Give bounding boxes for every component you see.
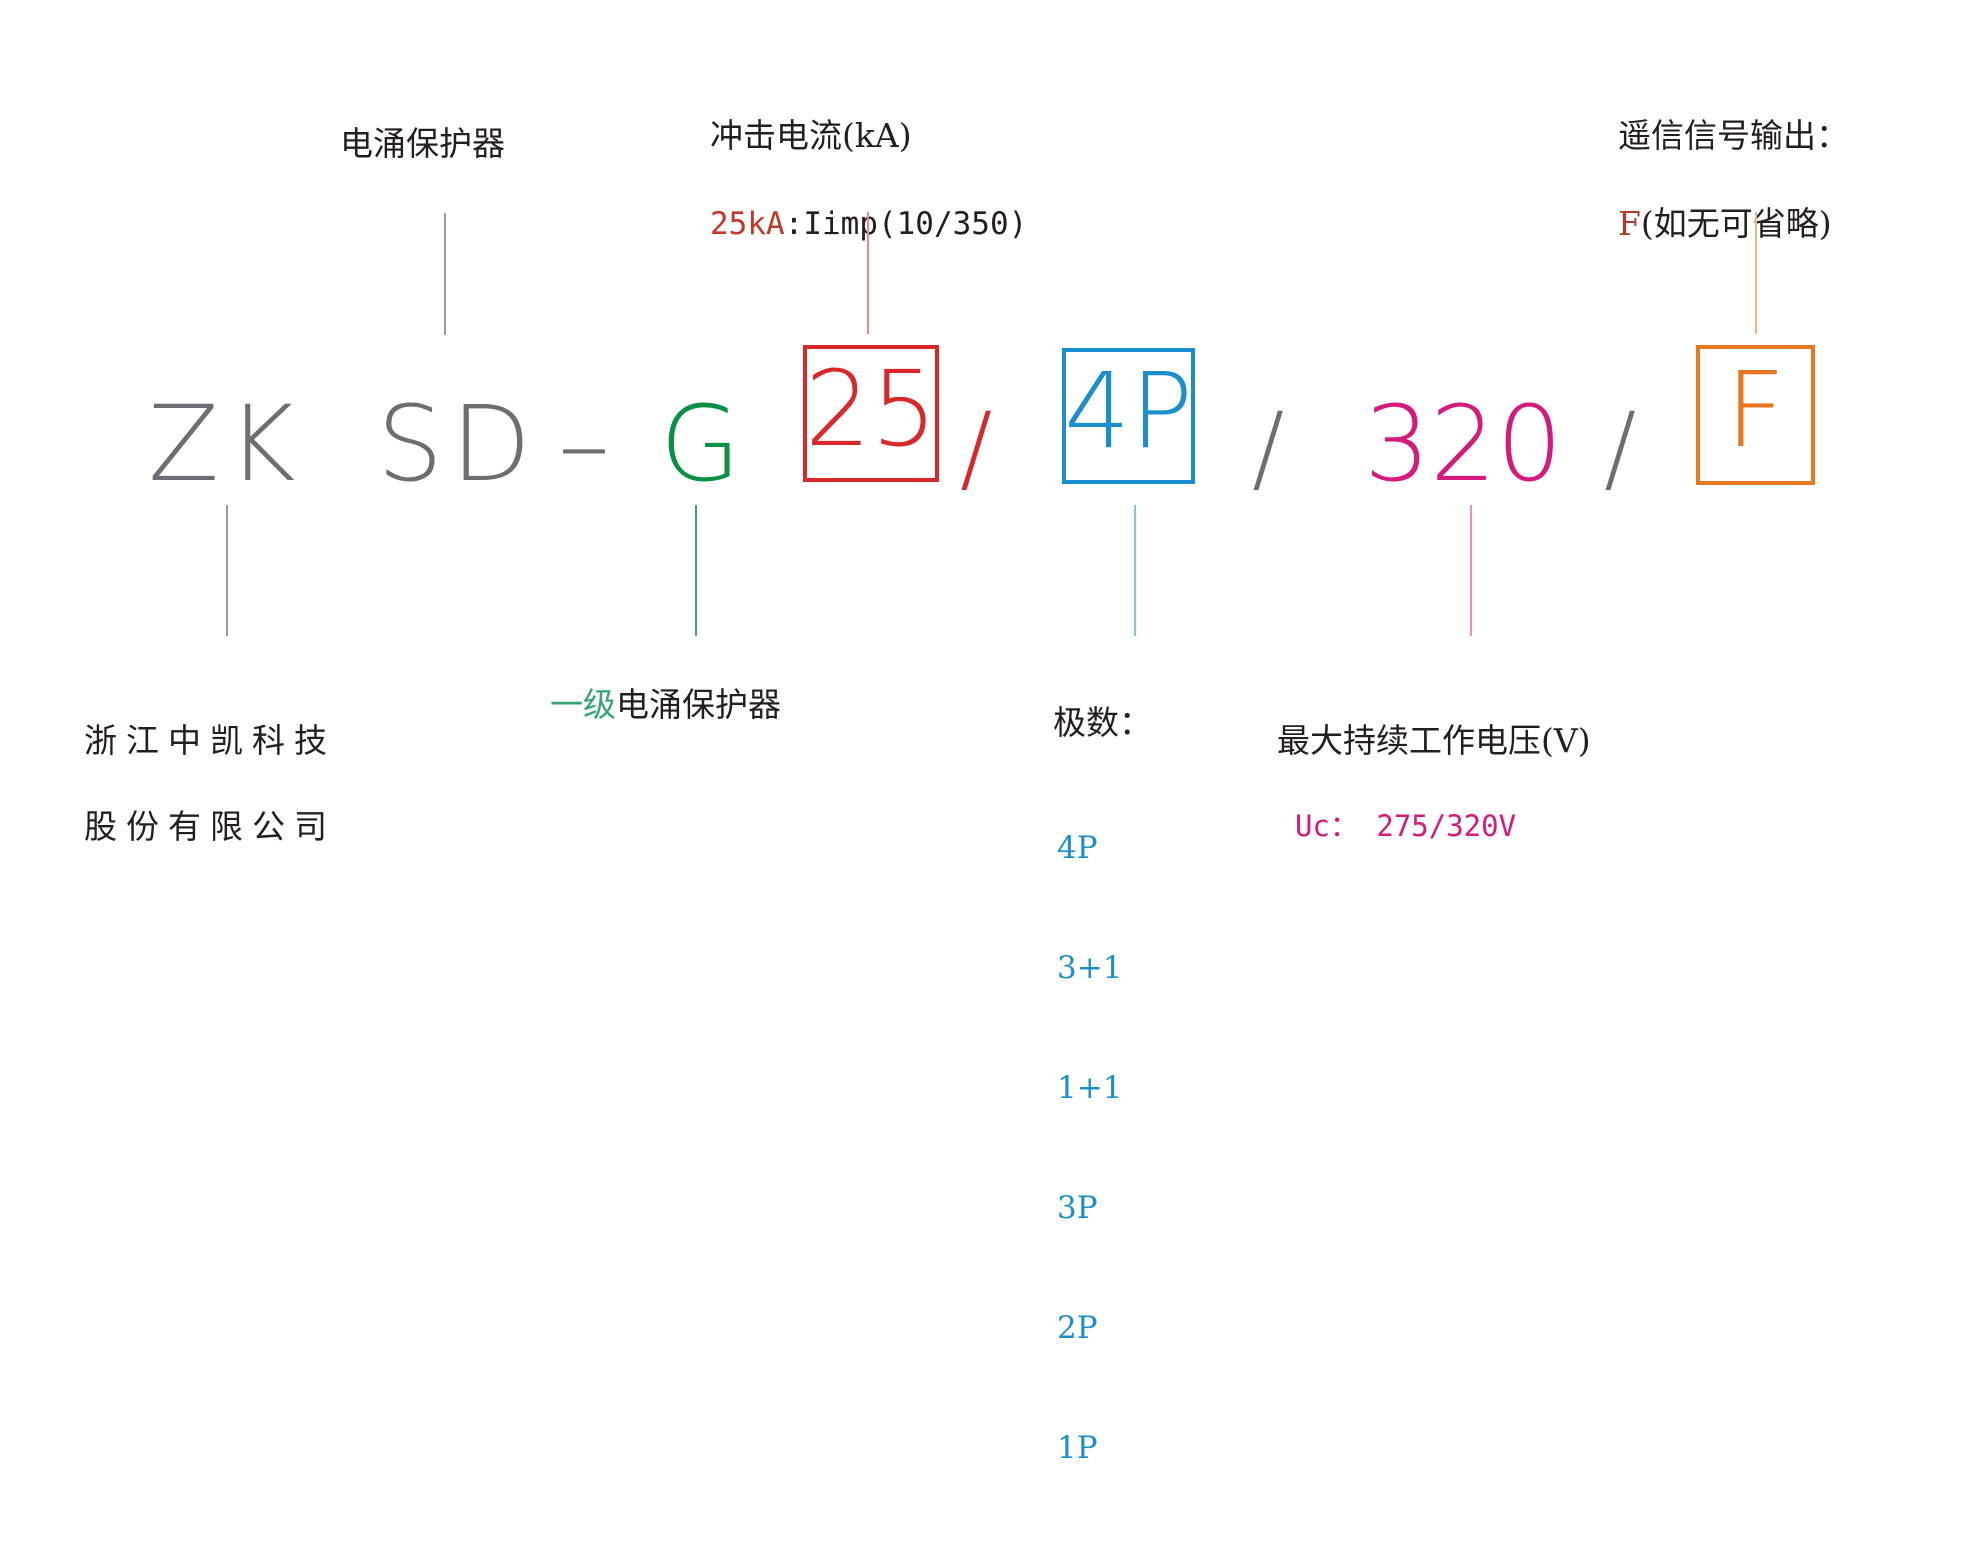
- annotation-grade-rest: 电涌保护器: [616, 685, 781, 724]
- annotation-grade: 一级电涌保护器: [550, 680, 781, 730]
- pole-option-5: 1P: [1057, 1428, 1122, 1468]
- annotation-poles-options: 4P 3+1 1+1 3P 2P 1P: [1057, 748, 1122, 1548]
- pole-option-3: 3P: [1057, 1188, 1122, 1228]
- connector-line-impulse-current: [867, 212, 869, 334]
- annotation-company: 浙江中凯科技 股份有限公司: [84, 680, 336, 888]
- annotation-company-line2: 股份有限公司: [84, 802, 336, 852]
- annotation-signal-output: 遥信信号输出： F(如无可省略): [1618, 74, 1849, 286]
- connector-line-surge-protector: [444, 213, 446, 335]
- code-part-voltage: 320: [1364, 392, 1563, 496]
- pole-option-2: 1+1: [1057, 1068, 1122, 1108]
- code-separator-3: /: [1604, 400, 1636, 496]
- annotation-signal-output-rest: (如无可省略): [1641, 204, 1832, 243]
- code-separator-2: /: [1252, 400, 1284, 496]
- model-code-line: ZK SD – G 25 / 4P / 320 / F: [0, 332, 1987, 502]
- annotation-poles-label: 极数：: [1053, 698, 1152, 748]
- code-part-signal-box: F: [1696, 345, 1815, 485]
- connector-line-company: [226, 505, 228, 636]
- annotation-impulse-current-rest: :Iimp(10/350): [785, 206, 1028, 242]
- code-part-grade: G: [660, 392, 741, 496]
- annotation-surge-protector: 电涌保护器: [340, 118, 505, 170]
- annotation-grade-highlight: 一级: [550, 685, 616, 724]
- annotation-voltage-line2: Uc： 275/320V: [1295, 802, 1591, 850]
- annotation-poles: 极数： 4P 3+1 1+1 3P 2P 1P: [1037, 680, 1152, 1566]
- annotation-voltage-line1: 最大持续工作电压(V): [1277, 716, 1591, 766]
- model-code-diagram: 电涌保护器 冲击电流(kA) 25kA:Iimp(10/350) 遥信信号输出：…: [0, 0, 1987, 1045]
- code-part-dash: –: [558, 392, 610, 496]
- connector-line-grade: [695, 505, 697, 636]
- code-part-poles: 4P: [1064, 359, 1193, 463]
- code-separator-1: /: [960, 400, 992, 496]
- annotation-impulse-current-line1: 冲击电流(kA): [710, 110, 1027, 162]
- pole-option-0: 4P: [1057, 828, 1122, 868]
- pole-option-1: 3+1: [1057, 948, 1122, 988]
- code-part-signal: F: [1726, 358, 1786, 462]
- connector-line-signal-output: [1755, 212, 1757, 334]
- code-part-series: SD: [377, 392, 539, 496]
- annotation-signal-output-line1: 遥信信号输出：: [1618, 110, 1849, 162]
- connector-line-poles: [1134, 505, 1136, 636]
- code-part-current-box: 25: [803, 345, 939, 482]
- annotation-voltage: 最大持续工作电压(V) Uc： 275/320V: [1277, 680, 1591, 886]
- code-part-poles-box: 4P: [1062, 348, 1195, 484]
- annotation-company-line1: 浙江中凯科技: [84, 716, 336, 766]
- pole-option-4: 2P: [1057, 1308, 1122, 1348]
- annotation-impulse-current-highlight: 25kA: [710, 206, 785, 242]
- connector-line-voltage: [1470, 505, 1472, 636]
- code-part-brand: ZK: [148, 392, 303, 496]
- annotation-signal-output-highlight: F: [1618, 204, 1641, 243]
- code-part-current: 25: [805, 357, 937, 461]
- annotation-signal-output-line2: F(如无可省略): [1618, 198, 1849, 250]
